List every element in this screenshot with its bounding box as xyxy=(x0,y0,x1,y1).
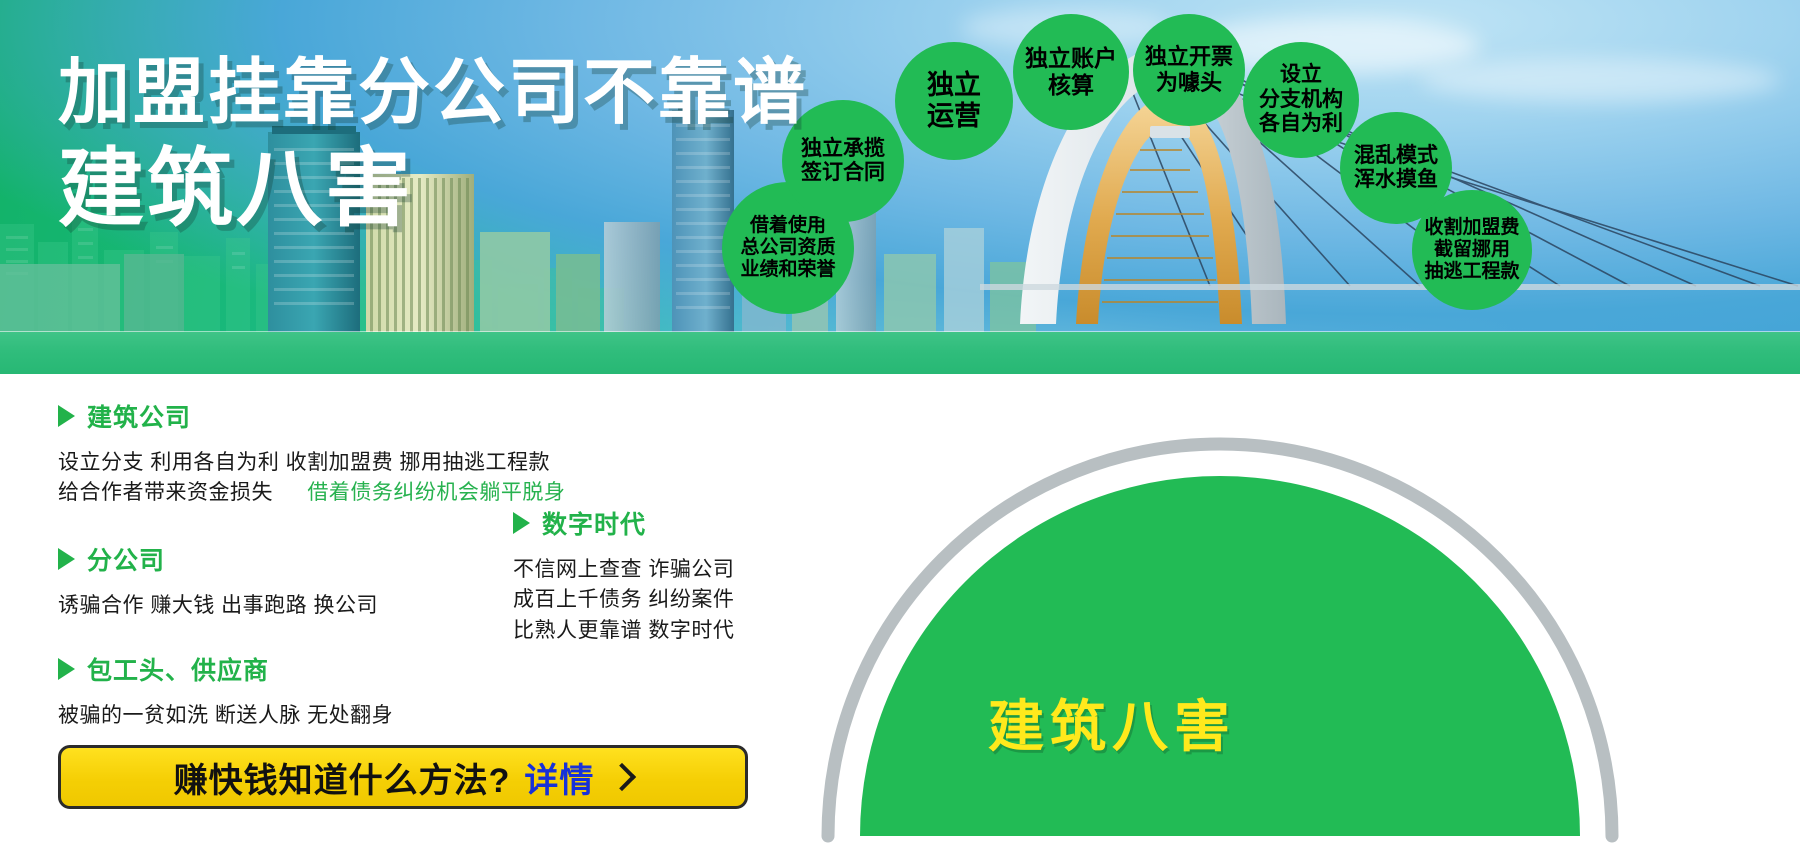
diagram-bubble: 独立运营 xyxy=(895,42,1013,160)
section-line: 不信网上查查 诈骗公司 xyxy=(513,555,833,585)
section-title: 包工头、供应商 xyxy=(87,651,269,687)
section-line-highlight: 借着债务纠纷机会躺平脱身 xyxy=(307,481,565,504)
bubble-diagram: 建筑八害 xyxy=(820,330,1800,844)
section-header: 包工头、供应商 xyxy=(58,651,818,687)
diagram-bubble: 独立账户核算 xyxy=(1013,14,1129,130)
triangle-bullet-icon xyxy=(58,405,75,427)
banner-titles: 加盟挂靠分公司不靠谱 建筑八害 xyxy=(58,56,808,234)
bubble-label: 收割加盟费截留挪用抽逃工程款 xyxy=(1424,217,1519,283)
section-title: 建筑公司 xyxy=(87,398,191,434)
cta-label: 赚快钱知道什么方法? xyxy=(174,753,511,802)
section-line-text: 给合作者带来资金损失 xyxy=(58,481,273,504)
cta-detail-link[interactable]: 详情 xyxy=(524,753,594,802)
bubble-label: 独立账户核算 xyxy=(1025,45,1117,98)
section-digital-era: 数字时代 不信网上查查 诈骗公司 成百上千债务 纠纷案件 比熟人更靠谱 数字时代 xyxy=(513,505,833,646)
section-construction-company: 建筑公司 设立分支 利用各自为利 收割加盟费 挪用抽逃工程款 给合作者带来资金损… xyxy=(58,398,818,509)
arch-and-connectors xyxy=(820,330,1800,844)
banner-title-sub: 建筑八害 xyxy=(58,144,808,234)
section-title: 分公司 xyxy=(87,541,165,577)
section-header: 数字时代 xyxy=(513,505,833,541)
bubble-label: 独立开票为噱头 xyxy=(1145,44,1233,95)
chevron-right-icon xyxy=(608,763,636,791)
triangle-bullet-icon xyxy=(58,658,75,680)
arch-label: 建筑八害 xyxy=(988,682,1236,763)
bubble-label: 独立运营 xyxy=(927,70,981,133)
cta-button[interactable]: 赚快钱知道什么方法? 详情 xyxy=(58,745,748,809)
left-content: 建筑公司 设立分支 利用各自为利 收割加盟费 挪用抽逃工程款 给合作者带来资金损… xyxy=(58,398,818,738)
section-line: 比熟人更靠谱 数字时代 xyxy=(513,616,833,646)
section-line: 成百上千债务 纠纷案件 xyxy=(513,585,833,615)
bubble-label: 设立分支机构各自为利 xyxy=(1259,63,1343,136)
section-line-text: 被骗的一贫如洗 断送人脉 无处翻身 xyxy=(58,704,393,727)
poster-root: 加盟挂靠分公司不靠谱 建筑八害 建筑公司 设立分支 利用各自为利 收割加盟费 挪… xyxy=(0,0,1800,844)
section-title: 数字时代 xyxy=(542,505,646,541)
diagram-bubble: 收割加盟费截留挪用抽逃工程款 xyxy=(1412,190,1532,310)
section-header: 建筑公司 xyxy=(58,398,818,434)
diagram-bubble: 设立分支机构各自为利 xyxy=(1243,42,1359,158)
banner-title-main: 加盟挂靠分公司不靠谱 xyxy=(58,56,808,132)
header-banner: 加盟挂靠分公司不靠谱 建筑八害 xyxy=(0,0,1800,374)
section-line-text: 诱骗合作 赚大钱 出事跑路 换公司 xyxy=(58,594,378,617)
triangle-bullet-icon xyxy=(513,512,530,534)
section-line-text: 设立分支 利用各自为利 收割加盟费 挪用抽逃工程款 xyxy=(58,451,550,474)
section-contractor-supplier: 包工头、供应商 被骗的一贫如洗 断送人脉 无处翻身 xyxy=(58,651,818,731)
section-line: 被骗的一贫如洗 断送人脉 无处翻身 xyxy=(58,701,818,731)
triangle-bullet-icon xyxy=(58,548,75,570)
section-line: 设立分支 利用各自为利 收割加盟费 挪用抽逃工程款 xyxy=(58,448,818,478)
diagram-bubble: 独立开票为噱头 xyxy=(1133,14,1245,126)
bubble-label: 独立承揽签订合同 xyxy=(801,137,885,186)
bubble-label: 混乱模式浑水摸鱼 xyxy=(1354,144,1438,193)
